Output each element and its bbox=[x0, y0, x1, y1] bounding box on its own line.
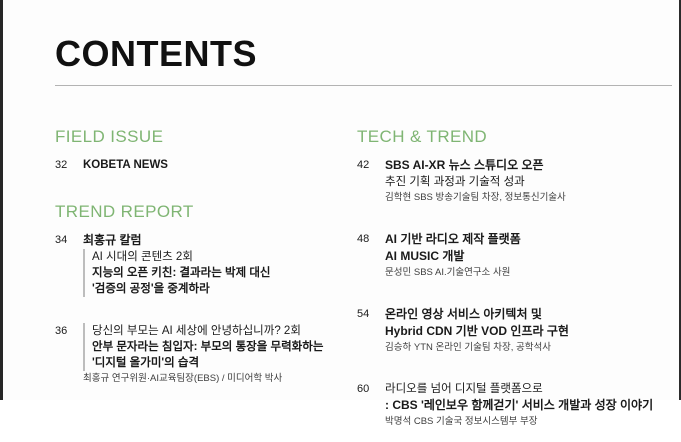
entry-subtitle-line: 추진 기획 과정과 기술적 성과 bbox=[385, 174, 667, 190]
entry-subblock: AI 시대의 콘텐츠 2회 지능의 오픈 키친: 결과라는 박제 대신 '검증의… bbox=[83, 249, 355, 297]
entry-subblock: 당신의 부모는 AI 세상에 안녕하십니까? 2회 안부 문자라는 침입자: 부… bbox=[83, 323, 355, 371]
entry-body: AI 기반 라디오 제작 플랫폼 AI MUSIC 개발 문성민 SBS AI.… bbox=[385, 231, 667, 280]
entry-subtitle-line: 당신의 부모는 AI 세상에 안녕하십니까? 2회 bbox=[92, 323, 355, 339]
entry-title-line: KOBETA NEWS bbox=[83, 157, 355, 173]
left-column: FIELD ISSUE 32 KOBETA NEWS TREND REPORT … bbox=[55, 128, 355, 399]
section-heading-tech-trend: TECH & TREND bbox=[357, 128, 667, 145]
entry-title-line: 온라인 영상 서비스 아키텍처 및 bbox=[385, 306, 667, 323]
entry-title-line: Hybrid CDN 기반 VOD 인프라 구현 bbox=[385, 323, 667, 340]
entry-subtitle-line: 라디오를 넘어 디지털 플랫폼으로 bbox=[385, 381, 667, 397]
entry-title-line: 지능의 오픈 키친: 결과라는 박제 대신 bbox=[92, 265, 355, 281]
toc-entry[interactable]: 48 AI 기반 라디오 제작 플랫폼 AI MUSIC 개발 문성민 SBS … bbox=[357, 231, 667, 280]
entry-body: SBS AI-XR 뉴스 스튜디오 오픈 추진 기획 과정과 기술적 성과 김학… bbox=[385, 157, 667, 205]
entry-title-line: 안부 문자라는 침입자: 부모의 통장을 무력화하는 bbox=[92, 339, 355, 355]
right-column: TECH & TREND 42 SBS AI-XR 뉴스 스튜디오 오픈 추진 … bbox=[357, 128, 667, 442]
entry-body: 당신의 부모는 AI 세상에 안녕하십니까? 2회 안부 문자라는 침입자: 부… bbox=[83, 323, 355, 386]
entry-title-line: '디지털 올가미'의 습격 bbox=[92, 355, 355, 371]
entry-lead-line: 최홍규 칼럼 bbox=[83, 232, 355, 249]
entry-page-number: 34 bbox=[55, 232, 83, 248]
section-trend-report: TREND REPORT 34 최홍규 칼럼 AI 시대의 콘텐츠 2회 지능의… bbox=[55, 203, 355, 386]
toc-entry[interactable]: 54 온라인 영상 서비스 아키텍처 및 Hybrid CDN 기반 VOD 인… bbox=[357, 306, 667, 355]
section-heading-field-issue: FIELD ISSUE bbox=[55, 128, 355, 145]
entry-page-number: 48 bbox=[357, 231, 385, 247]
toc-entry[interactable]: 32 KOBETA NEWS bbox=[55, 157, 355, 173]
entry-body: 온라인 영상 서비스 아키텍처 및 Hybrid CDN 기반 VOD 인프라 … bbox=[385, 306, 667, 355]
toc-entry[interactable]: 36 당신의 부모는 AI 세상에 안녕하십니까? 2회 안부 문자라는 침입자… bbox=[55, 323, 355, 386]
entry-page-number: 42 bbox=[357, 157, 385, 173]
page-title: CONTENTS bbox=[55, 36, 257, 72]
entry-body: 라디오를 넘어 디지털 플랫폼으로 : CBS '레인보우 함께걷기' 서비스 … bbox=[385, 381, 667, 429]
entry-body: KOBETA NEWS bbox=[83, 157, 355, 173]
entry-title-line: '검증의 공정'을 중계하라 bbox=[92, 281, 355, 297]
entry-byline: 박명석 CBS 기술국 정보시스템부 부장 bbox=[385, 415, 667, 429]
entry-byline: 최홍규 연구위원·AI교육팀장(EBS) / 미디어학 박사 bbox=[83, 372, 355, 386]
title-divider bbox=[55, 85, 672, 86]
toc-entry[interactable]: 42 SBS AI-XR 뉴스 스튜디오 오픈 추진 기획 과정과 기술적 성과… bbox=[357, 157, 667, 205]
entry-page-number: 36 bbox=[55, 323, 83, 339]
entry-page-number: 54 bbox=[357, 306, 385, 322]
entry-byline: 김학현 SBS 방송기술팀 차장, 정보통신기술사 bbox=[385, 191, 667, 205]
page-edge-left bbox=[0, 0, 3, 400]
entry-page-number: 60 bbox=[357, 381, 385, 397]
entry-byline: 문성민 SBS AI.기술연구소 사원 bbox=[385, 266, 667, 280]
contents-page: CONTENTS FIELD ISSUE 32 KOBETA NEWS TREN… bbox=[0, 0, 681, 400]
entry-title-line: SBS AI-XR 뉴스 스튜디오 오픈 bbox=[385, 157, 667, 174]
entry-title-line: AI MUSIC 개발 bbox=[385, 248, 667, 265]
entry-body: 최홍규 칼럼 AI 시대의 콘텐츠 2회 지능의 오픈 키친: 결과라는 박제 … bbox=[83, 232, 355, 297]
entry-byline: 김승하 YTN 온라인 기술팀 차장, 공학석사 bbox=[385, 341, 667, 355]
section-field-issue: FIELD ISSUE 32 KOBETA NEWS bbox=[55, 128, 355, 173]
section-heading-trend-report: TREND REPORT bbox=[55, 203, 355, 220]
entry-title-line: AI 기반 라디오 제작 플랫폼 bbox=[385, 231, 667, 248]
entry-page-number: 32 bbox=[55, 157, 83, 173]
entry-subtitle-line: AI 시대의 콘텐츠 2회 bbox=[92, 249, 355, 265]
toc-entry[interactable]: 34 최홍규 칼럼 AI 시대의 콘텐츠 2회 지능의 오픈 키친: 결과라는 … bbox=[55, 232, 355, 297]
toc-entry[interactable]: 60 라디오를 넘어 디지털 플랫폼으로 : CBS '레인보우 함께걷기' 서… bbox=[357, 381, 667, 429]
